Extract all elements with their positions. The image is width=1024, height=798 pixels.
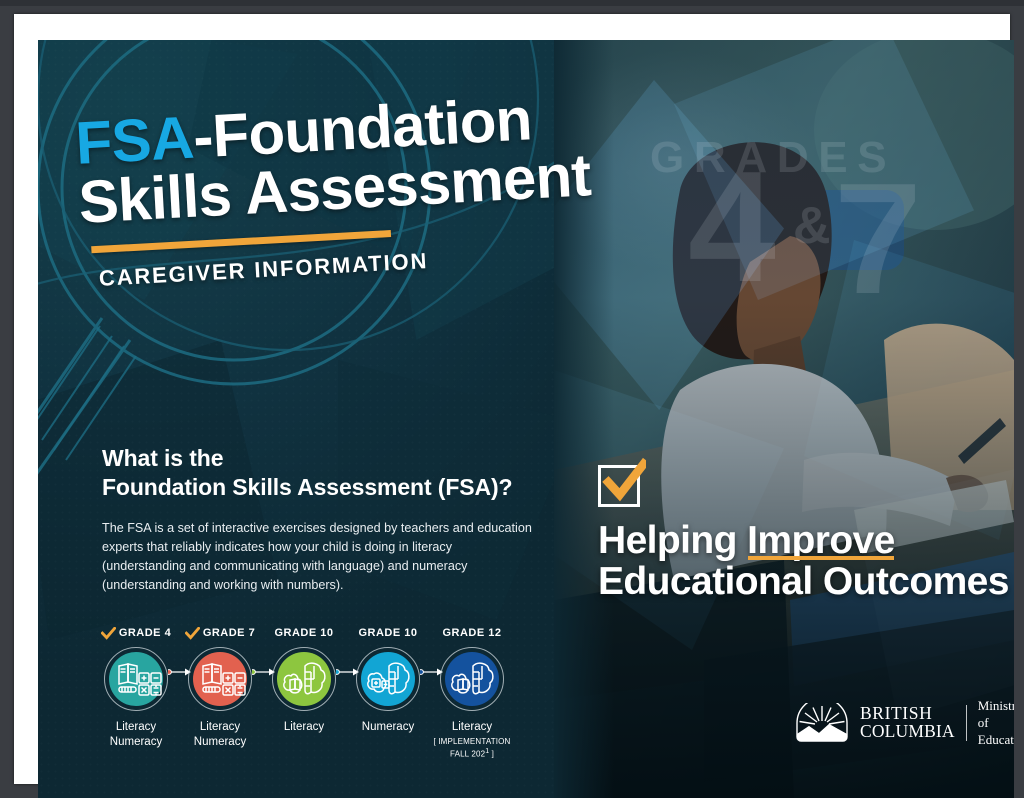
book-math-icon xyxy=(193,652,247,706)
timeline-grade-label: GRADE 10 xyxy=(359,627,418,639)
timeline-grade-label: GRADE 4 xyxy=(119,627,171,639)
what-is-body-text: The FSA is a set of interactive exercise… xyxy=(102,519,534,596)
title-underline-rule xyxy=(91,230,391,253)
headline-word-helping: Helping xyxy=(598,519,747,562)
ministry-line-1: Ministry of xyxy=(978,697,1014,731)
timeline-subjects: Numeracy xyxy=(346,720,430,735)
timeline-item-grade-10-numeracy[interactable]: GRADE 10 xyxy=(346,624,430,735)
book-math-icon xyxy=(109,652,163,706)
timeline-circle xyxy=(104,647,168,711)
frame-top-bar xyxy=(0,0,1024,6)
headline-line-2: Educational Outcomes xyxy=(598,561,1014,602)
brain-book-icon xyxy=(277,652,331,706)
bc-sun-mountain-icon xyxy=(795,703,849,743)
orange-checkmark-icon xyxy=(598,457,646,505)
timeline-subjects: Literacy xyxy=(262,720,346,735)
headline-line-1: Helping Improve xyxy=(598,520,1014,561)
timeline-subjects: Literacy xyxy=(430,720,514,735)
checkmark-icon xyxy=(185,627,200,640)
timeline-grade-label: GRADE 7 xyxy=(203,627,255,639)
checkbox-icon xyxy=(598,465,640,507)
timeline-subjects: LiteracyNumeracy xyxy=(178,720,262,749)
what-is-fsa-section: What is the Foundation Skills Assessment… xyxy=(102,444,534,596)
timeline-item-grade-7[interactable]: GRADE 7 xyxy=(178,624,262,749)
poster-title-block: FSA-Foundation Skills Assessment CAREGIV… xyxy=(74,80,703,292)
assessment-timeline: GRADE 4 xyxy=(94,624,544,764)
what-is-heading: What is the Foundation Skills Assessment… xyxy=(102,444,534,502)
timeline-subjects: LiteracyNumeracy xyxy=(94,720,178,749)
timeline-item-header: GRADE 4 xyxy=(94,624,178,642)
ministry-line-2: Education xyxy=(978,731,1014,748)
checkmark-icon xyxy=(101,627,116,640)
timeline-implementation-note: [ IMPLEMENTATIONFALL 2021 ] xyxy=(430,737,514,760)
headline-word-improve: Improve xyxy=(747,520,895,561)
timeline-item-header: GRADE 7 xyxy=(178,624,262,642)
what-is-heading-line-2: Foundation Skills Assessment (FSA)? xyxy=(102,474,512,500)
timeline-circle xyxy=(356,647,420,711)
bc-government-logo: BRITISH COLUMBIA Ministry of Education xyxy=(795,697,1014,748)
timeline-item-header: GRADE 10 xyxy=(346,624,430,642)
logo-divider xyxy=(966,705,967,741)
timeline-circle xyxy=(440,647,504,711)
timeline-grade-label: GRADE 12 xyxy=(443,627,502,639)
bc-wordmark: BRITISH COLUMBIA xyxy=(860,705,955,741)
headline-block: Helping Improve Educational Outcomes xyxy=(598,465,1014,603)
bc-word-columbia: COLUMBIA xyxy=(860,723,955,741)
timeline-item-grade-4[interactable]: GRADE 4 xyxy=(94,624,178,749)
footnote-marker: 1 xyxy=(485,748,489,755)
timeline-item-header: GRADE 10 xyxy=(262,624,346,642)
timeline-circle xyxy=(188,647,252,711)
screenshot-frame: GRADES 4 & 7 FSA-Foundation Skills Asses… xyxy=(0,0,1024,784)
timeline-item-header: GRADE 12 xyxy=(430,624,514,642)
timeline-item-grade-10-literacy[interactable]: GRADE 10 xyxy=(262,624,346,735)
what-is-heading-line-1: What is the xyxy=(102,445,223,471)
ministry-wordmark: Ministry of Education xyxy=(978,697,1014,748)
brain-gear-icon xyxy=(361,652,415,706)
fsa-poster: GRADES 4 & 7 FSA-Foundation Skills Asses… xyxy=(38,40,1014,798)
timeline-item-grade-12[interactable]: GRADE 12 xyxy=(430,624,514,760)
document-page: GRADES 4 & 7 FSA-Foundation Skills Asses… xyxy=(14,14,1010,784)
brain-book-icon xyxy=(445,652,499,706)
timeline-grade-label: GRADE 10 xyxy=(275,627,334,639)
timeline-circle xyxy=(272,647,336,711)
